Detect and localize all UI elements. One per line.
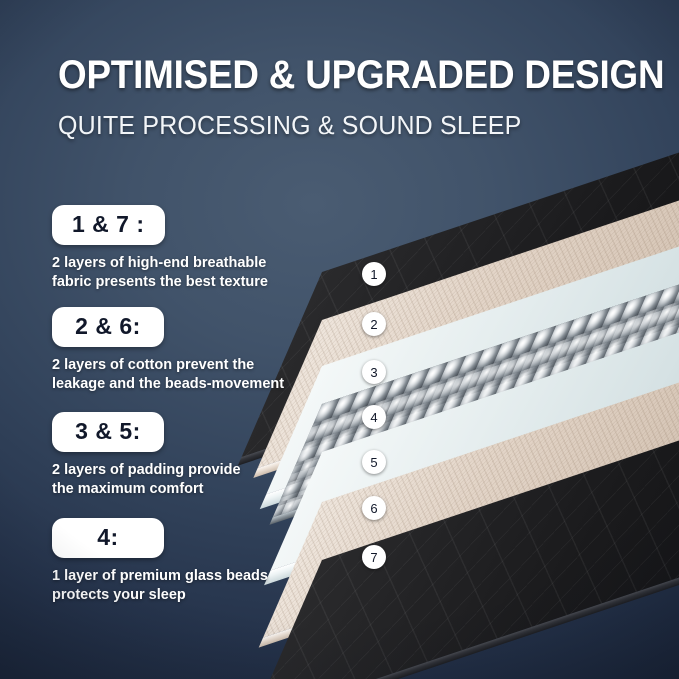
feature-block-1: 1 & 7 : 2 layers of high-end breathable … [52, 205, 302, 292]
feature-description-1: 2 layers of high-end breathable fabric p… [52, 254, 302, 292]
feature-desc-line: 2 layers of padding provide [52, 461, 302, 480]
feature-label-pill-1: 1 & 7 : [52, 205, 165, 245]
feature-label-3: 3 & 5: [75, 418, 141, 444]
page-title: OPTIMISED & UPGRADED DESIGN [58, 54, 610, 96]
feature-description-3: 2 layers of padding provide the maximum … [52, 461, 302, 499]
header: OPTIMISED & UPGRADED DESIGN QUITE PROCES… [58, 54, 658, 141]
layer-badge-3: 3 [362, 360, 386, 384]
layer-badge-4: 4 [362, 405, 386, 429]
feature-label-pill-3: 3 & 5: [52, 412, 164, 452]
feature-desc-line: the maximum comfort [52, 480, 302, 499]
layer-badge-6: 6 [362, 496, 386, 520]
layer-badge-2: 2 [362, 312, 386, 336]
feature-label-1: 1 & 7 : [72, 211, 145, 237]
feature-block-3: 3 & 5: 2 layers of padding provide the m… [52, 412, 302, 499]
layer-badge-1: 1 [362, 262, 386, 286]
feature-desc-line: 1 layer of premium glass beads [52, 567, 302, 586]
feature-desc-line: 2 layers of high-end breathable [52, 254, 302, 273]
feature-description-2: 2 layers of cotton prevent the leakage a… [52, 356, 302, 394]
layer-badge-5: 5 [362, 450, 386, 474]
page-subtitle: QUITE PROCESSING & SOUND SLEEP [58, 110, 634, 141]
layer-7-black-fabric [322, 560, 679, 679]
feature-block-2: 2 & 6: 2 layers of cotton prevent the le… [52, 307, 302, 394]
feature-label-pill-4: 4: [52, 518, 164, 558]
feature-desc-line: fabric presents the best texture [52, 273, 302, 292]
feature-label-4: 4: [97, 524, 118, 550]
feature-description-4: 1 layer of premium glass beads protects … [52, 567, 302, 605]
feature-desc-line: protects your sleep [52, 586, 302, 605]
feature-label-2: 2 & 6: [75, 313, 141, 339]
product-infographic: 1 2 3 4 5 6 7 OPTIMISED & UPGRADED DESIG… [0, 0, 679, 679]
layer-badge-7: 7 [362, 545, 386, 569]
feature-desc-line: 2 layers of cotton prevent the [52, 356, 302, 375]
feature-label-pill-2: 2 & 6: [52, 307, 164, 347]
feature-block-4: 4: 1 layer of premium glass beads protec… [52, 518, 302, 605]
feature-desc-line: leakage and the beads-movement [52, 375, 302, 394]
